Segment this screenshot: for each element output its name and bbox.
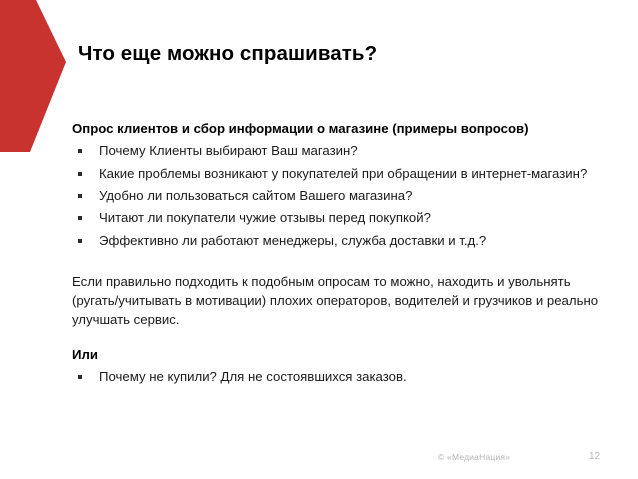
spacer bbox=[72, 254, 614, 272]
square-bullet-icon bbox=[78, 216, 82, 220]
square-bullet-icon bbox=[78, 149, 82, 153]
slide-canvas: Что еще можно спрашивать? Опрос клиентов… bbox=[0, 0, 638, 479]
square-bullet-icon bbox=[78, 172, 82, 176]
or-bullet-list: Почему не купили? Для не состоявшихся за… bbox=[72, 368, 614, 387]
square-bullet-icon bbox=[78, 375, 82, 379]
footer-credit: © «МедиаНация» bbox=[438, 452, 510, 462]
list-item-label: Почему Клиенты выбирают Ваш магазин? bbox=[99, 143, 358, 158]
list-item-label: Удобно ли пользоваться сайтом Вашего маг… bbox=[99, 188, 412, 203]
list-item: Удобно ли пользоваться сайтом Вашего маг… bbox=[72, 187, 614, 206]
slide-title: Что еще можно спрашивать? bbox=[78, 42, 618, 66]
list-item-label: Почему не купили? Для не состоявшихся за… bbox=[99, 369, 407, 384]
list-item: Читают ли покупатели чужие отзывы перед … bbox=[72, 209, 614, 228]
section-heading: Опрос клиентов и сбор информации о магаз… bbox=[72, 120, 614, 138]
page-number: 12 bbox=[589, 451, 600, 462]
spacer bbox=[72, 330, 614, 346]
red-chevron-decoration bbox=[0, 0, 70, 160]
list-item: Почему Клиенты выбирают Ваш магазин? bbox=[72, 142, 614, 161]
list-item-label: Эффективно ли работают менеджеры, служба… bbox=[99, 233, 486, 248]
list-item: Почему не купили? Для не состоявшихся за… bbox=[72, 368, 614, 387]
square-bullet-icon bbox=[78, 194, 82, 198]
slide-body: Опрос клиентов и сбор информации о магаз… bbox=[72, 120, 614, 390]
square-bullet-icon bbox=[78, 239, 82, 243]
list-item: Эффективно ли работают менеджеры, служба… bbox=[72, 232, 614, 251]
body-paragraph: Если правильно подходить к подобным опро… bbox=[72, 272, 614, 329]
list-item: Какие проблемы возникают у покупателей п… bbox=[72, 165, 614, 184]
list-item-label: Какие проблемы возникают у покупателей п… bbox=[99, 166, 587, 181]
or-heading: Или bbox=[72, 346, 614, 364]
list-item-label: Читают ли покупатели чужие отзывы перед … bbox=[99, 210, 431, 225]
question-bullet-list: Почему Клиенты выбирают Ваш магазин? Как… bbox=[72, 142, 614, 250]
